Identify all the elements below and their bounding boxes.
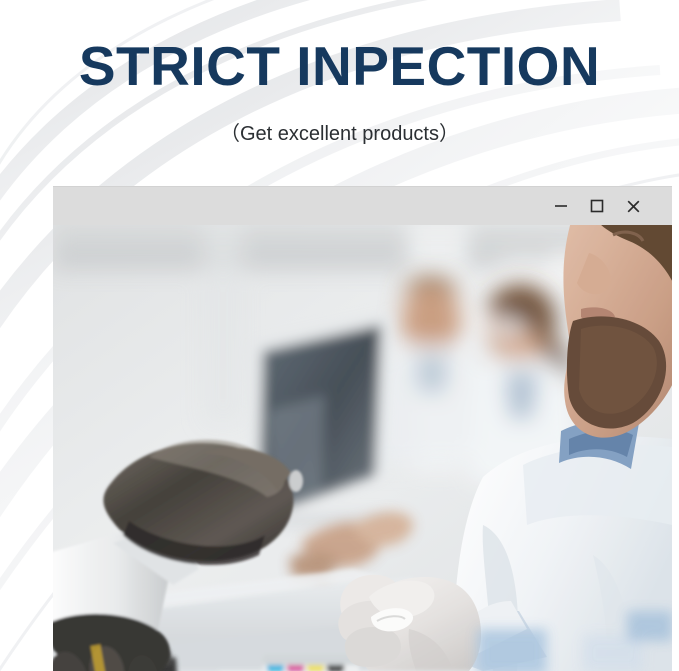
lab-inspection-photo xyxy=(53,225,672,671)
close-button[interactable] xyxy=(616,191,650,221)
minimize-button[interactable] xyxy=(544,191,578,221)
page-header: STRICT INPECTION （Get excellent products… xyxy=(0,0,679,147)
app-window xyxy=(53,186,672,671)
minimize-icon xyxy=(553,198,569,214)
page-subtitle: （Get excellent products） xyxy=(0,96,679,147)
maximize-button[interactable] xyxy=(580,191,614,221)
page-title: STRICT INPECTION xyxy=(0,0,679,96)
window-titlebar[interactable] xyxy=(53,186,672,225)
close-icon xyxy=(625,198,642,215)
maximize-icon xyxy=(589,198,605,214)
lab-inspection-photo-graphic xyxy=(53,225,672,671)
